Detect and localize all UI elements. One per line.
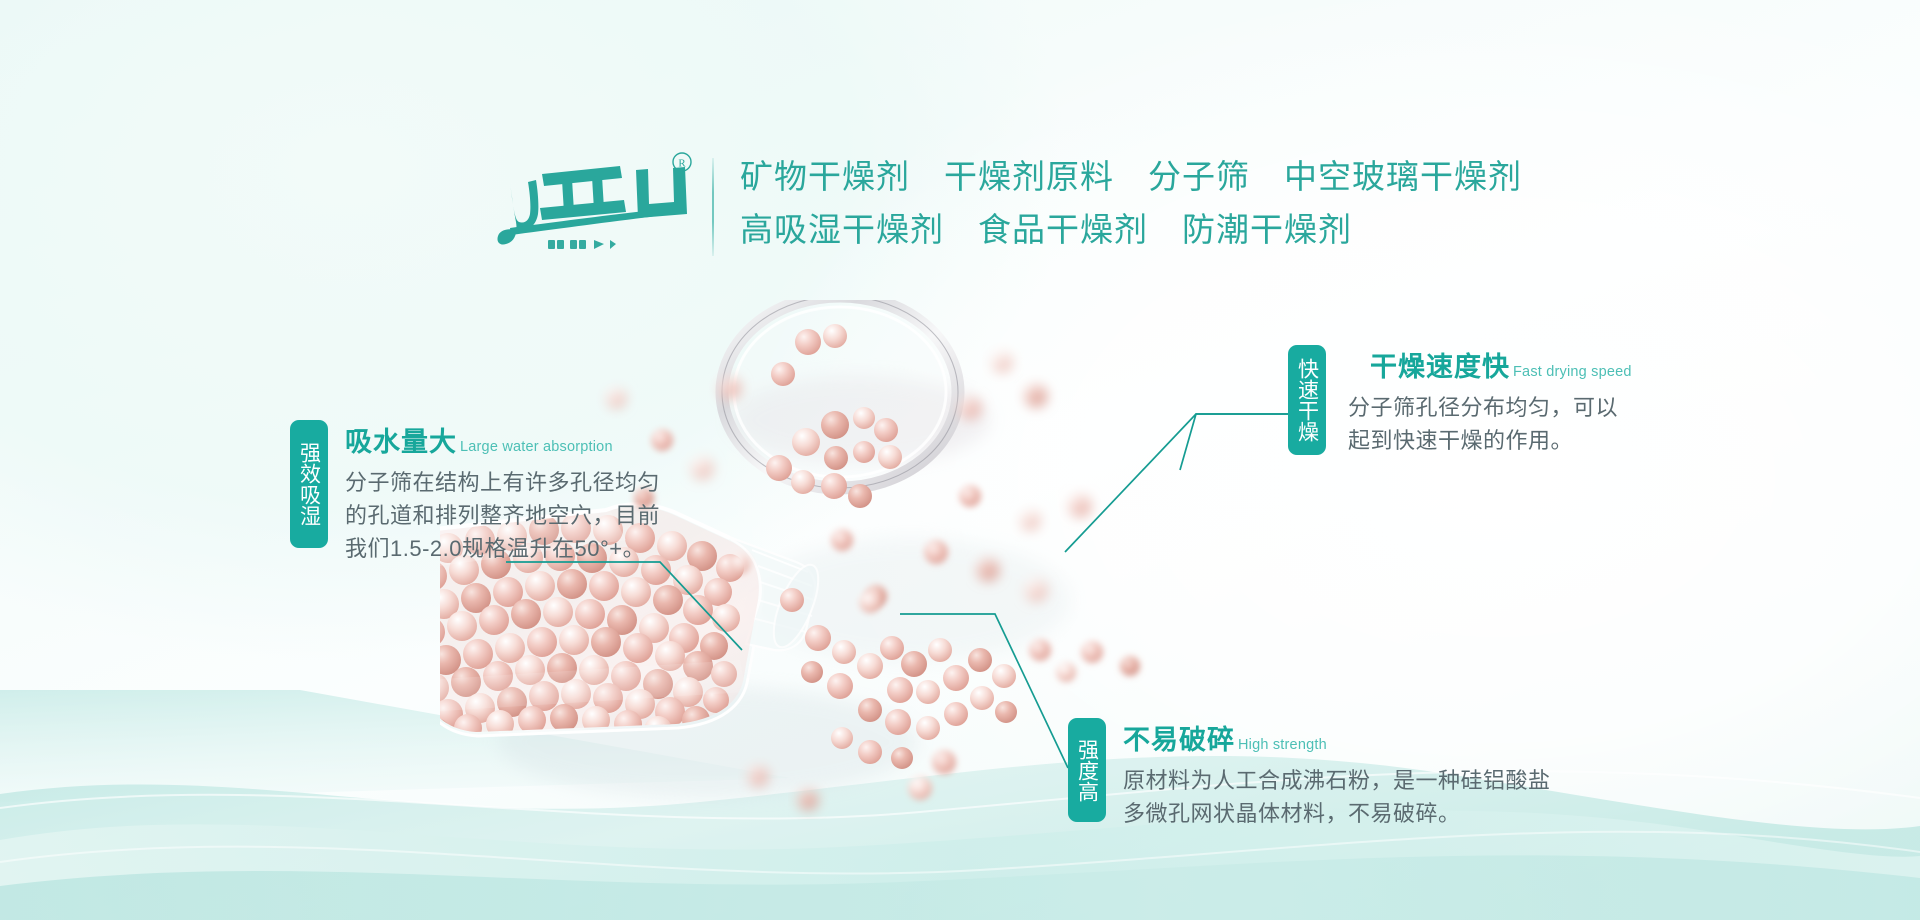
feature-callout-speed: 快速干燥 干燥速度快 Fast drying speed 分子筛孔径分布均匀，可…: [1288, 345, 1632, 455]
feature-badge-absorption: 强效吸湿: [290, 420, 328, 548]
nav-item-desiccant-raw-material[interactable]: 干燥剂原料: [944, 150, 1114, 203]
feature-badge-strength: 强度高: [1068, 718, 1106, 822]
nav-item-high-moisture-absorption-desiccant[interactable]: 高吸湿干燥剂: [740, 203, 944, 256]
feature-heading-strength: 不易破碎 High strength: [1123, 718, 1551, 757]
feature-title-absorption: 吸水量大: [345, 420, 457, 459]
connector-line-speed: [1180, 414, 1288, 470]
feature-body-line: 的孔道和排列整齐地空穴，目前: [345, 499, 660, 532]
feature-title-strength: 不易破碎: [1123, 718, 1235, 757]
feature-body-line: 多微孔网状晶体材料，不易破碎。: [1123, 797, 1551, 830]
promo-banner: R 矿物干燥剂 干燥剂原料 分子筛 中空玻璃干燥剂 高吸湿干燥剂 食品干燥剂: [0, 0, 1920, 920]
nav-item-molecular-sieve[interactable]: 分子筛: [1148, 150, 1250, 203]
feature-text-absorption: 吸水量大 Large water absorption 分子筛在结构上有许多孔径…: [328, 420, 660, 548]
nav-item-food-desiccant[interactable]: 食品干燥剂: [978, 203, 1148, 256]
bottle-cap-ring: [722, 300, 958, 508]
feature-body-line: 原材料为人工合成沸石粉，是一种硅铝酸盐: [1123, 764, 1551, 797]
site-header: R 矿物干燥剂 干燥剂原料 分子筛 中空玻璃干燥剂 高吸湿干燥剂 食品干燥剂: [0, 0, 1920, 300]
feature-text-speed: 干燥速度快 Fast drying speed 分子筛孔径分布均匀，可以 起到快…: [1326, 345, 1632, 455]
nav-row-1: 矿物干燥剂 干燥剂原料 分子筛 中空玻璃干燥剂: [740, 150, 1522, 203]
feature-body-line: 我们1.5-2.0规格温升在50°+。: [345, 532, 660, 565]
feature-callout-strength: 强度高 不易破碎 High strength 原材料为人工合成沸石粉，是一种硅铝…: [1068, 718, 1551, 822]
nav-item-mineral-desiccant[interactable]: 矿物干燥剂: [740, 150, 910, 203]
feature-subtitle-absorption: Large water absorption: [460, 439, 613, 455]
feature-body-line: 分子筛孔径分布均匀，可以: [1348, 391, 1632, 424]
nav-row-2: 高吸湿干燥剂 食品干燥剂 防潮干燥剂: [740, 203, 1522, 256]
header-divider: [712, 158, 714, 256]
brand-logo[interactable]: R: [496, 152, 706, 260]
feature-callout-absorption: 强效吸湿 吸水量大 Large water absorption 分子筛在结构上…: [290, 420, 660, 548]
registered-trademark-icon: R: [673, 153, 691, 171]
feature-body-line: 起到快速干燥的作用。: [1348, 424, 1632, 457]
svg-text:R: R: [678, 158, 686, 170]
feature-badge-speed: 快速干燥: [1288, 345, 1326, 455]
feature-subtitle-speed: Fast drying speed: [1513, 364, 1632, 380]
nav-item-insulating-glass-desiccant[interactable]: 中空玻璃干燥剂: [1284, 150, 1522, 203]
feature-heading-absorption: 吸水量大 Large water absorption: [345, 420, 660, 459]
feature-text-strength: 不易破碎 High strength 原材料为人工合成沸石粉，是一种硅铝酸盐 多…: [1106, 718, 1551, 822]
nav-item-moisture-proof-desiccant[interactable]: 防潮干燥剂: [1182, 203, 1352, 256]
main-navigation: 矿物干燥剂 干燥剂原料 分子筛 中空玻璃干燥剂 高吸湿干燥剂 食品干燥剂 防潮干…: [740, 150, 1522, 256]
feature-subtitle-strength: High strength: [1238, 737, 1327, 753]
feature-body-line: 分子筛在结构上有许多孔径均匀: [345, 466, 660, 499]
feature-title-speed: 干燥速度快: [1370, 345, 1510, 384]
feature-heading-speed: 干燥速度快 Fast drying speed: [1348, 345, 1632, 384]
